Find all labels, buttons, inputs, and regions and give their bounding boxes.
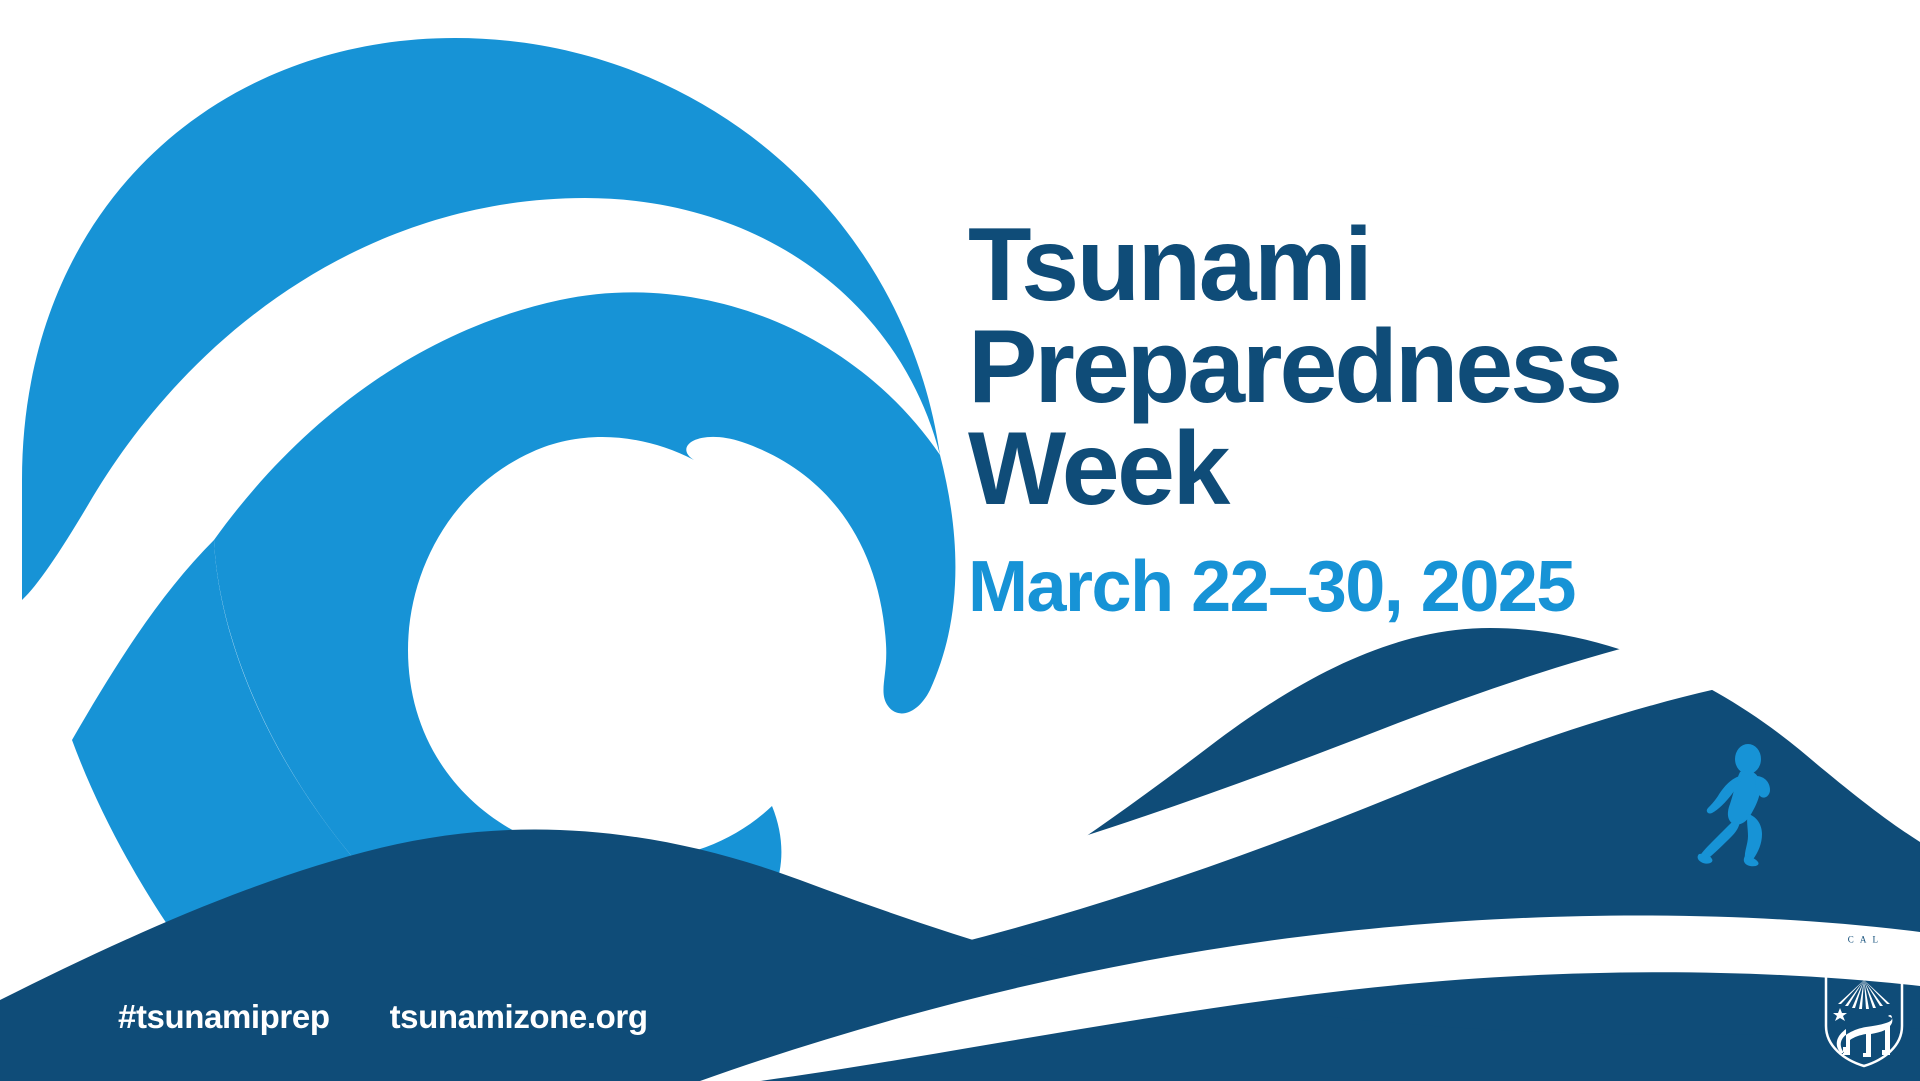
cal-text: C A L [1848, 935, 1881, 945]
headline-line-3: Week [968, 419, 1728, 521]
oes-text: OES [1832, 946, 1895, 979]
sun-rays-icon [1838, 980, 1890, 1009]
headline-line-2: Preparedness [968, 317, 1728, 419]
star-icon [1833, 1008, 1847, 1021]
event-date: March 22–30, 2025 [968, 551, 1728, 623]
tsunami-preparedness-week-poster: Tsunami Preparedness Week March 22–30, 2… [0, 0, 1920, 1081]
grizzly-bear-icon [1837, 1015, 1893, 1057]
hashtag-label: #tsunamiprep [118, 998, 330, 1036]
website-label[interactable]: tsunamizone.org [390, 998, 648, 1036]
footer-tagline: #tsunamiprep tsunamizone.org [118, 998, 648, 1036]
headline-line-1: Tsunami [968, 215, 1728, 317]
headline-block: Tsunami Preparedness Week March 22–30, 2… [968, 215, 1728, 623]
cal-oes-logo: C A L OES [1818, 922, 1910, 1072]
